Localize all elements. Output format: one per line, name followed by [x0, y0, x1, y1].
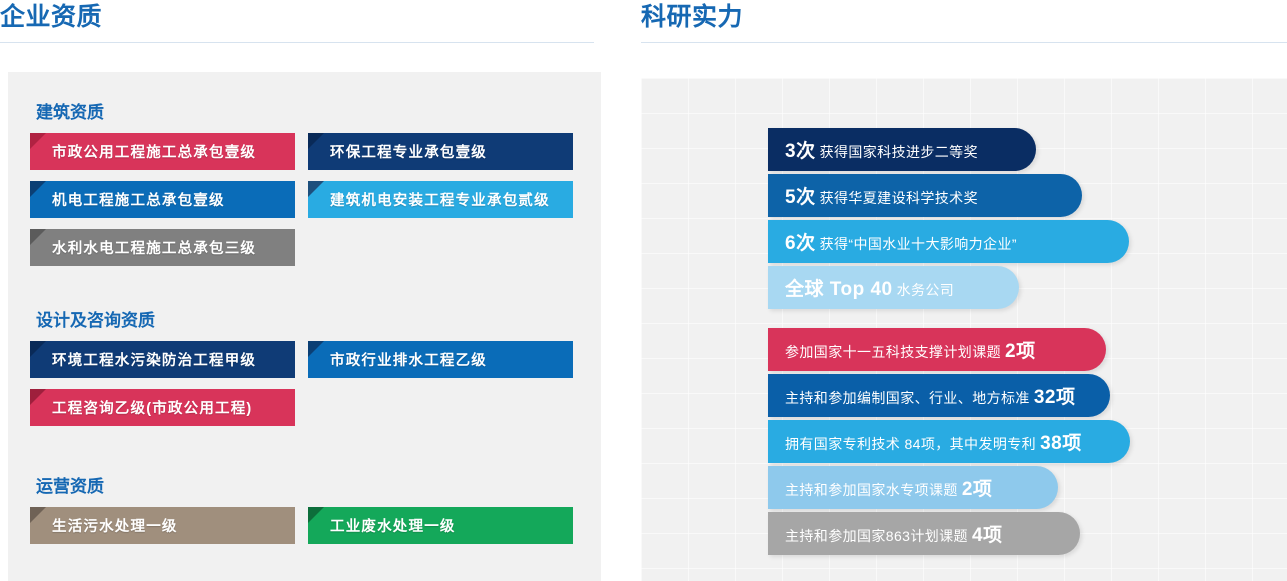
research-pill-body: 主持和参加国家863计划课题: [785, 528, 968, 544]
qualification-badge-label: 环境工程水污染防治工程甲级: [52, 349, 256, 370]
badge-corner-icon: [30, 389, 46, 405]
qualification-badge[interactable]: 水利水电工程施工总承包三级: [30, 229, 295, 266]
qualification-row: 水利水电工程施工总承包三级: [30, 229, 580, 266]
qualification-badge-label: 机电工程施工总承包壹级: [52, 189, 225, 210]
research-pill-trail: 4项: [972, 525, 1003, 546]
qualification-row: 机电工程施工总承包壹级建筑机电安装工程专业承包贰级: [30, 181, 580, 218]
qualification-group-title: 建筑资质: [36, 102, 580, 124]
research-pill-body: 拥有国家专利技术 84项，其中发明专利: [785, 436, 1036, 452]
qualification-badge[interactable]: 市政公用工程施工总承包壹级: [30, 133, 295, 170]
research-pill-lead: 6次: [785, 233, 816, 254]
page-root: 企业资质 科研实力 建筑资质市政公用工程施工总承包壹级环保工程专业承包壹级机电工…: [0, 0, 1287, 581]
research-pill-lead: 5次: [785, 187, 816, 208]
qualification-badge-label: 工程咨询乙级(市政公用工程): [52, 397, 252, 418]
qualification-row: 环境工程水污染防治工程甲级市政行业排水工程乙级: [30, 341, 580, 378]
research-pill[interactable]: 拥有国家专利技术 84项，其中发明专利 38项: [768, 420, 1130, 463]
research-pill-lead: 3次: [785, 141, 816, 162]
left-column-title: 企业资质: [0, 0, 594, 32]
research-pill-body: 参加国家十一五科技支撑计划课题: [785, 344, 1001, 360]
badge-corner-icon: [308, 133, 324, 149]
research-pill-text: 3次 获得国家科技进步二等奖: [785, 136, 978, 163]
research-pill-text: 主持和参加国家水专项课题 2项: [785, 474, 992, 501]
badge-corner-icon: [30, 181, 46, 197]
research-pill-body: 获得国家科技进步二等奖: [820, 144, 978, 160]
qualification-group: 建筑资质市政公用工程施工总承包壹级环保工程专业承包壹级机电工程施工总承包壹级建筑…: [30, 102, 580, 277]
left-header-divider: [0, 42, 594, 43]
qualification-row: 生活污水处理一级工业废水处理一级: [30, 507, 580, 544]
qualification-badge[interactable]: 工程咨询乙级(市政公用工程): [30, 389, 295, 426]
research-pill[interactable]: 主持和参加编制国家、行业、地方标准 32项: [768, 374, 1110, 417]
research-pill-trail: 32项: [1034, 387, 1076, 408]
research-pill-stack: 3次 获得国家科技进步二等奖5次 获得华夏建设科学技术奖6次 获得“中国水业十大…: [768, 128, 1129, 312]
qualification-badge[interactable]: 环保工程专业承包壹级: [308, 133, 573, 170]
right-column-header: 科研实力: [641, 0, 1287, 43]
research-pill-body: 主持和参加国家水专项课题: [785, 482, 958, 498]
research-pill-text: 拥有国家专利技术 84项，其中发明专利 38项: [785, 428, 1082, 455]
research-pill-text: 主持和参加编制国家、行业、地方标准 32项: [785, 382, 1075, 409]
qualification-badge[interactable]: 建筑机电安装工程专业承包贰级: [308, 181, 573, 218]
research-pill-trail: 38项: [1040, 433, 1082, 454]
qualification-badge-label: 水利水电工程施工总承包三级: [52, 237, 256, 258]
qualification-badge-label: 市政行业排水工程乙级: [330, 349, 487, 370]
research-pill-lead: 全球 Top 40: [785, 279, 893, 300]
research-pill-body: 获得“中国水业十大影响力企业”: [820, 236, 1017, 252]
qualification-group: 运营资质生活污水处理一级工业废水处理一级: [30, 476, 580, 555]
research-pill-text: 全球 Top 40 水务公司: [785, 274, 954, 301]
research-panel: 3次 获得国家科技进步二等奖5次 获得华夏建设科学技术奖6次 获得“中国水业十大…: [641, 78, 1287, 581]
qualification-row: 市政公用工程施工总承包壹级环保工程专业承包壹级: [30, 133, 580, 170]
qualification-badge-label: 生活污水处理一级: [52, 515, 178, 536]
badge-corner-icon: [308, 341, 324, 357]
research-pill-text: 参加国家十一五科技支撑计划课题 2项: [785, 336, 1036, 363]
qualification-badge-label: 建筑机电安装工程专业承包贰级: [330, 189, 550, 210]
badge-corner-icon: [30, 341, 46, 357]
research-pill[interactable]: 主持和参加国家水专项课题 2项: [768, 466, 1058, 509]
qualification-badge-label: 市政公用工程施工总承包壹级: [52, 141, 256, 162]
left-column-header: 企业资质: [0, 0, 594, 43]
research-pill[interactable]: 参加国家十一五科技支撑计划课题 2项: [768, 328, 1106, 371]
right-column-title: 科研实力: [641, 0, 1287, 32]
badge-corner-icon: [30, 229, 46, 245]
research-pill-trail: 2项: [962, 479, 993, 500]
research-pill-text: 6次 获得“中国水业十大影响力企业”: [785, 228, 1017, 255]
badge-corner-icon: [308, 181, 324, 197]
qualification-badge-label: 环保工程专业承包壹级: [330, 141, 487, 162]
qualification-row: 工程咨询乙级(市政公用工程): [30, 389, 580, 426]
badge-corner-icon: [308, 507, 324, 523]
qualifications-panel: 建筑资质市政公用工程施工总承包壹级环保工程专业承包壹级机电工程施工总承包壹级建筑…: [8, 72, 601, 581]
qualification-badge-label: 工业废水处理一级: [330, 515, 456, 536]
research-pill[interactable]: 主持和参加国家863计划课题 4项: [768, 512, 1080, 555]
research-pill[interactable]: 全球 Top 40 水务公司: [768, 266, 1019, 309]
right-header-divider: [641, 42, 1287, 43]
research-pill-trail: 2项: [1005, 341, 1036, 362]
badge-corner-icon: [30, 133, 46, 149]
badge-corner-icon: [30, 507, 46, 523]
research-pill-stack: 参加国家十一五科技支撑计划课题 2项主持和参加编制国家、行业、地方标准 32项拥…: [768, 328, 1130, 558]
qualification-group-title: 设计及咨询资质: [36, 310, 580, 332]
research-pill-body: 主持和参加编制国家、行业、地方标准: [785, 390, 1030, 406]
research-pill-text: 5次 获得华夏建设科学技术奖: [785, 182, 978, 209]
research-pill[interactable]: 3次 获得国家科技进步二等奖: [768, 128, 1036, 171]
research-pill-body: 水务公司: [897, 282, 955, 298]
research-pill-body: 获得华夏建设科学技术奖: [820, 190, 978, 206]
qualification-badge[interactable]: 市政行业排水工程乙级: [308, 341, 573, 378]
qualification-badge[interactable]: 工业废水处理一级: [308, 507, 573, 544]
qualification-badge[interactable]: 环境工程水污染防治工程甲级: [30, 341, 295, 378]
qualification-badge[interactable]: 机电工程施工总承包壹级: [30, 181, 295, 218]
research-pill[interactable]: 5次 获得华夏建设科学技术奖: [768, 174, 1082, 217]
research-pill-text: 主持和参加国家863计划课题 4项: [785, 520, 1003, 547]
qualification-group-title: 运营资质: [36, 476, 580, 498]
research-pill[interactable]: 6次 获得“中国水业十大影响力企业”: [768, 220, 1129, 263]
qualification-group: 设计及咨询资质环境工程水污染防治工程甲级市政行业排水工程乙级工程咨询乙级(市政公…: [30, 310, 580, 437]
qualification-badge[interactable]: 生活污水处理一级: [30, 507, 295, 544]
